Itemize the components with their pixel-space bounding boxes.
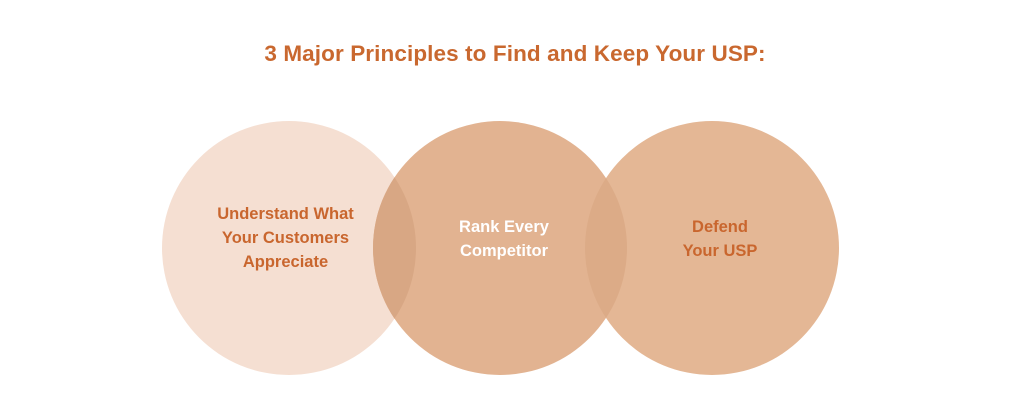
venn-diagram: Understand What Your Customers Appreciat… <box>0 0 1030 416</box>
infographic-canvas: 3 Major Principles to Find and Keep Your… <box>0 0 1030 416</box>
venn-circles-svg <box>0 0 1030 416</box>
